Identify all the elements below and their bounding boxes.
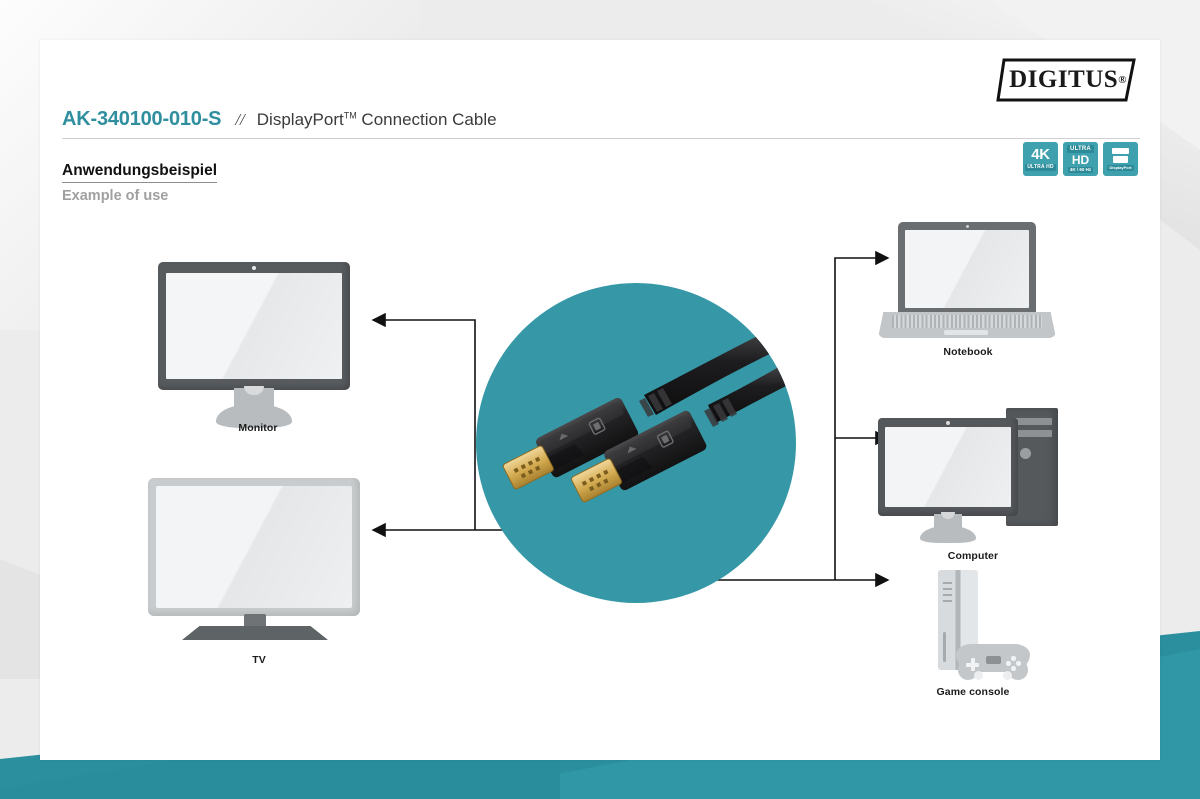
notebook-base (878, 312, 1056, 338)
tower-drive-bay-2 (1012, 430, 1052, 437)
product-title-rest: Connection Cable (357, 110, 497, 129)
tv-stand-base (182, 626, 328, 640)
displayport-cable-illustration (476, 283, 796, 603)
connection-arrows (40, 40, 1160, 760)
device-label-game-console: Game console (898, 686, 1048, 698)
dpad-icon (966, 658, 979, 671)
notebook-trackpad (944, 330, 988, 335)
computer-stand-neck (934, 514, 962, 529)
monitor-stand-foot (216, 404, 292, 428)
gamepad-stick-right (1003, 671, 1012, 680)
trademark-mark: TM (344, 110, 357, 120)
gamepad-body (956, 644, 1030, 672)
device-game-console: Game console (898, 570, 1048, 690)
monitor-screen (166, 273, 342, 379)
brand-logo: DIGITUS® (996, 56, 1136, 104)
badge-4k-label: 4K (1031, 147, 1050, 162)
section-heading-en: Example of use (62, 188, 168, 204)
product-sku: AK-340100-010-S (62, 108, 221, 131)
gamepad-touchpad (986, 656, 1001, 664)
gamepad-grip-left (956, 658, 981, 683)
product-title-row: AK-340100-010-S // DisplayPortTM Connect… (62, 108, 1140, 139)
badge-uhd-line1: ULTRA (1067, 145, 1094, 153)
product-title-main: DisplayPort (257, 110, 344, 129)
registered-mark: ® (1118, 74, 1127, 86)
displayport-connector-icon (1112, 148, 1129, 163)
tv-screen (156, 486, 352, 608)
monitor-bezel (158, 262, 350, 390)
device-label-computer: Computer (878, 550, 1068, 562)
application-diagram: Monitor TV Notebook (40, 40, 1160, 760)
computer-stand-foot (920, 526, 976, 543)
gamepad-action-buttons (1006, 656, 1021, 671)
section-heading-de: Anwendungsbeispiel (62, 162, 217, 183)
notebook-screen (905, 230, 1029, 308)
power-button-icon (1020, 448, 1031, 459)
gamepad-stick-left (974, 671, 983, 680)
computer-monitor-screen (885, 427, 1011, 507)
console-tower (938, 570, 978, 670)
badge-4k-sub: ULTRA HD (1025, 164, 1056, 171)
logo-text: DIGITUS (1009, 66, 1118, 94)
computer-webcam-icon (946, 421, 950, 425)
datasheet-page: DIGITUS® AK-340100-010-S // DisplayPortT… (0, 0, 1200, 799)
tower-drive-bay-1 (1012, 418, 1052, 425)
content-card: DIGITUS® AK-340100-010-S // DisplayPortT… (40, 40, 1160, 760)
tv-bezel (148, 478, 360, 616)
notebook-keyboard (892, 315, 1042, 328)
computer-monitor-bezel (878, 418, 1018, 516)
notebook-webcam-icon (966, 225, 969, 228)
badge-uhd-line3: 4K / 60 Hz (1068, 167, 1093, 174)
gamepad-grip-right (1006, 658, 1031, 683)
console-disc-slot (943, 632, 946, 662)
console-vents-icon (943, 582, 952, 606)
badge-dp-label: DisplayPort (1107, 165, 1133, 171)
device-label-monitor: Monitor (158, 422, 358, 434)
device-label-notebook: Notebook (878, 346, 1058, 358)
gamepad-controller (956, 638, 1030, 678)
device-label-tv: TV (148, 654, 370, 666)
teal-circle-background (476, 283, 796, 603)
displayport-badge: DisplayPort (1103, 142, 1138, 176)
device-notebook: Notebook (878, 222, 1058, 352)
page-title: DisplayPortTM Connection Cable (257, 110, 497, 130)
ultra-hd-badge: ULTRA HD 4K / 60 Hz (1063, 142, 1098, 176)
product-photo-circle (476, 283, 796, 603)
notebook-lid (898, 222, 1036, 314)
logo-wordmark: DIGITUS® (996, 56, 1136, 104)
webcam-icon (252, 266, 256, 270)
tv-stand-stem (244, 614, 266, 628)
device-computer: Computer (878, 408, 1068, 543)
computer-tower (1006, 408, 1058, 526)
certification-badges: 4K ULTRA HD ULTRA HD 4K / 60 Hz DisplayP… (1023, 142, 1138, 176)
4k-ultra-hd-badge: 4K ULTRA HD (1023, 142, 1058, 176)
badge-uhd-line2: HD (1072, 154, 1089, 166)
device-monitor: Monitor (158, 262, 358, 437)
monitor-stand-neck (234, 388, 274, 408)
title-separator: // (235, 110, 244, 130)
device-tv: TV (148, 478, 370, 673)
